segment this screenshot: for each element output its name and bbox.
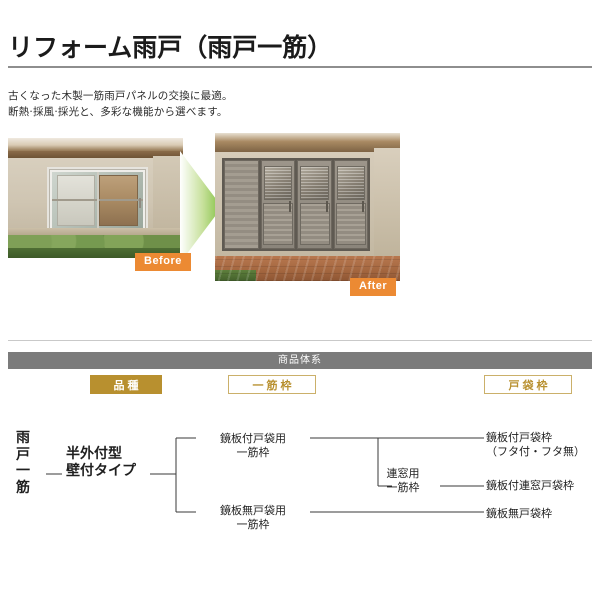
page-title: リフォーム雨戸（雨戸一筋） xyxy=(8,34,592,62)
leaf-top-line-1: 鏡板付戸袋枠 xyxy=(486,431,585,445)
shutter-window-3 xyxy=(337,166,366,201)
before-badge: Before xyxy=(135,253,191,271)
root-char-1: 雨 xyxy=(14,430,32,447)
before-photo xyxy=(8,138,183,258)
after-eave xyxy=(215,133,400,152)
lead-line-2: 断熱·採風·採光と、多彩な機能から選べます。 xyxy=(8,104,233,120)
shutter-panel-2 xyxy=(297,160,332,249)
shutter-grip-1 xyxy=(289,201,291,211)
branch-mid-line-1: 連窓用 xyxy=(366,467,440,481)
section-divider xyxy=(8,340,592,341)
chip-hinshu: 品種 xyxy=(90,375,162,394)
tree-branch-bottom: 鏡板無戸袋用 一筋枠 xyxy=(198,504,308,532)
lead-copy: 古くなった木製一筋雨戸パネルの交換に最適。 断熱·採風·採光と、多彩な機能から選… xyxy=(8,88,233,121)
door-handle xyxy=(139,198,141,208)
root-char-2: 戸 xyxy=(14,447,32,464)
branch-top-line-2: 一筋枠 xyxy=(198,446,308,460)
tree-branch-mid: 連窓用 一筋枠 xyxy=(366,467,440,495)
shutter-grip-3 xyxy=(362,201,364,211)
tree-leaf-top: 鏡板付戸袋枠 （フタ付・フタ無） xyxy=(486,431,585,459)
branch-top-line-1: 鏡板付戸袋用 xyxy=(198,432,308,446)
after-grass xyxy=(215,270,256,281)
louvered-shutter-bank xyxy=(222,158,370,251)
tree-branch-top: 鏡板付戸袋用 一筋枠 xyxy=(198,432,308,460)
door-mullion-vertical xyxy=(97,172,99,229)
root-char-4: 筋 xyxy=(14,480,32,497)
before-after-comparison: Before After xyxy=(8,133,592,308)
shutter-panel-1 xyxy=(261,160,296,249)
after-stucco-wall-right xyxy=(374,148,400,260)
door-glass xyxy=(52,172,144,229)
title-block: リフォーム雨戸（雨戸一筋） xyxy=(8,34,592,68)
title-underline xyxy=(8,66,592,68)
shutter-panel-3 xyxy=(334,160,369,249)
shutter-window-2 xyxy=(300,166,329,201)
chip-hitosuji-waku: 一筋枠 xyxy=(228,375,316,394)
tree-level1-label: 半外付型 壁付タイプ xyxy=(66,446,136,480)
level1-line-1: 半外付型 xyxy=(66,446,136,463)
after-badge: After xyxy=(350,278,396,296)
tree-leaf-bottom: 鏡板無戸袋枠 xyxy=(486,507,552,521)
product-hierarchy-tree: 雨 戸 一 筋 半外付型 壁付タイプ 鏡板付戸袋用 一筋枠 鏡板無戸袋用 一筋枠… xyxy=(0,412,600,562)
branch-bottom-line-1: 鏡板無戸袋用 xyxy=(198,504,308,518)
level1-line-2: 壁付タイプ xyxy=(66,463,136,480)
product-system-header: 商品体系 xyxy=(8,352,592,369)
shutter-grip-2 xyxy=(326,201,328,211)
catalog-page: リフォーム雨戸（雨戸一筋） 古くなった木製一筋雨戸パネルの交換に最適。 断熱·採… xyxy=(0,0,600,600)
ground-strip xyxy=(8,228,183,235)
tree-leaf-mid: 鏡板付連窓戸袋枠 xyxy=(486,479,574,493)
leaf-top-line-2: （フタ付・フタ無） xyxy=(486,445,585,459)
lead-line-1: 古くなった木製一筋雨戸パネルの交換に最適。 xyxy=(8,88,233,104)
branch-bottom-line-2: 一筋枠 xyxy=(198,518,308,532)
root-char-3: 一 xyxy=(14,463,32,480)
chip-tobukuro-waku: 戸袋枠 xyxy=(484,375,572,394)
after-photo xyxy=(215,133,400,281)
shutter-window-1 xyxy=(264,166,293,201)
tree-root-label: 雨 戸 一 筋 xyxy=(14,430,32,496)
sliding-glass-door xyxy=(47,167,149,234)
shutter-panel-pocket xyxy=(224,160,259,249)
branch-mid-line-2: 一筋枠 xyxy=(366,481,440,495)
